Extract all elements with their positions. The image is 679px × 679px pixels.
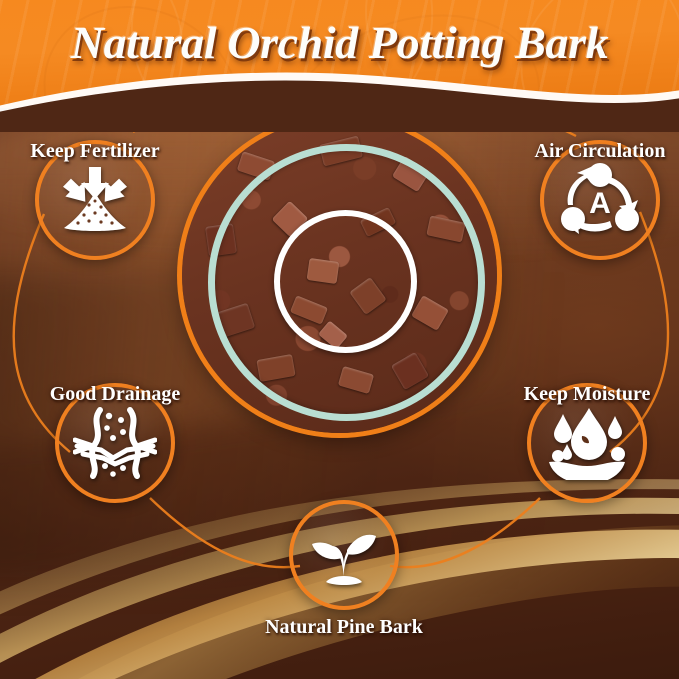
hero-bark-image — [182, 118, 497, 433]
feature-air-circulation[interactable]: A Air Circulation — [540, 140, 660, 260]
feature-label: Good Drainage — [50, 383, 181, 406]
feature-keep-moisture[interactable]: Keep Moisture — [527, 383, 647, 503]
page-title: Natural Orchid Potting Bark — [0, 14, 679, 72]
feature-natural-pine-bark[interactable]: Natural Pine Bark — [289, 500, 399, 610]
white-inner-ring — [274, 210, 417, 353]
infographic-canvas: Natural Orchid Potting Bark Keep Fertili… — [0, 0, 679, 679]
seedling-sprout-icon — [306, 522, 382, 588]
feature-keep-fertilizer[interactable]: Keep Fertilizer — [35, 140, 155, 260]
feature-label: Keep Fertilizer — [30, 140, 159, 163]
feature-label: Keep Moisture — [524, 383, 651, 406]
air-circulation-icon: A — [560, 161, 640, 239]
feature-label: Natural Pine Bark — [265, 616, 423, 639]
feature-good-drainage[interactable]: Good Drainage — [55, 383, 175, 503]
air-icon-letter: A — [589, 187, 611, 220]
feature-label: Air Circulation — [535, 140, 666, 163]
water-droplet-icon — [545, 406, 629, 480]
fertilizer-mound-icon — [56, 165, 134, 235]
drainage-filter-icon — [73, 406, 157, 480]
